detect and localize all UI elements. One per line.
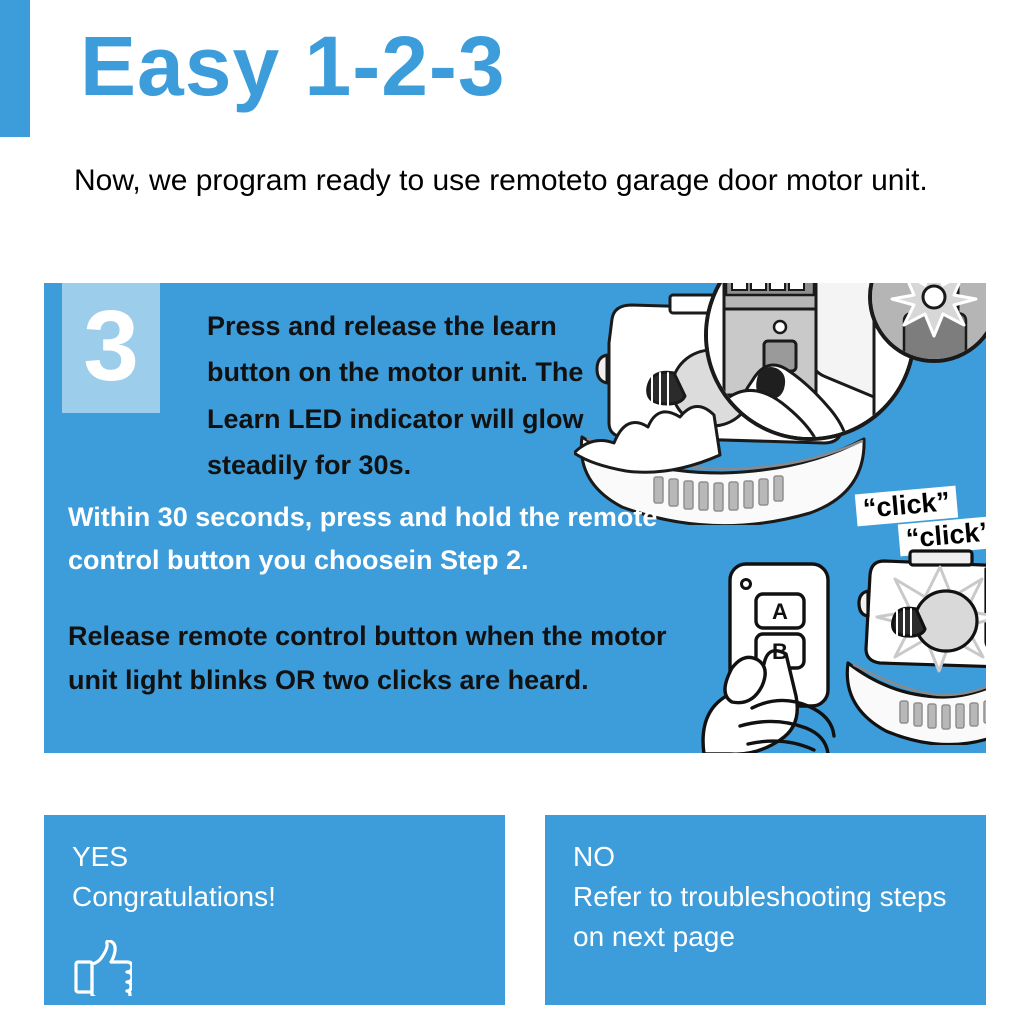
header-accent-bar	[0, 0, 30, 137]
remote-button-b-label: B	[772, 639, 788, 664]
result-yes-body: Congratulations!	[72, 877, 452, 917]
result-yes-heading: YES	[72, 837, 128, 877]
intro-paragraph: Now, we program ready to use remoteto ga…	[74, 160, 954, 203]
motor-unit-blinking-light-illustration	[844, 545, 986, 750]
result-box-no: NO Refer to troubleshooting steps on nex…	[545, 815, 986, 1005]
step-number-badge: 3	[62, 283, 160, 413]
remote-control-in-hand-illustration: A B	[692, 558, 867, 753]
page-title: Easy 1-2-3	[80, 22, 506, 110]
result-no-body: Refer to troubleshooting steps on next p…	[573, 877, 953, 957]
release-button-instruction: Release remote control button when the m…	[68, 615, 668, 702]
result-box-yes: YES Congratulations!	[44, 815, 505, 1005]
remote-button-a-label: A	[772, 599, 788, 624]
thumbs-up-icon	[74, 940, 132, 1001]
step-number: 3	[62, 296, 160, 396]
result-no-heading: NO	[573, 837, 615, 877]
step-3-panel: 3 Press and release the learn button on …	[44, 283, 986, 753]
step-instruction-text: Press and release the learn button on th…	[207, 303, 637, 489]
hold-button-instruction: Within 30 seconds, press and hold the re…	[68, 496, 688, 582]
